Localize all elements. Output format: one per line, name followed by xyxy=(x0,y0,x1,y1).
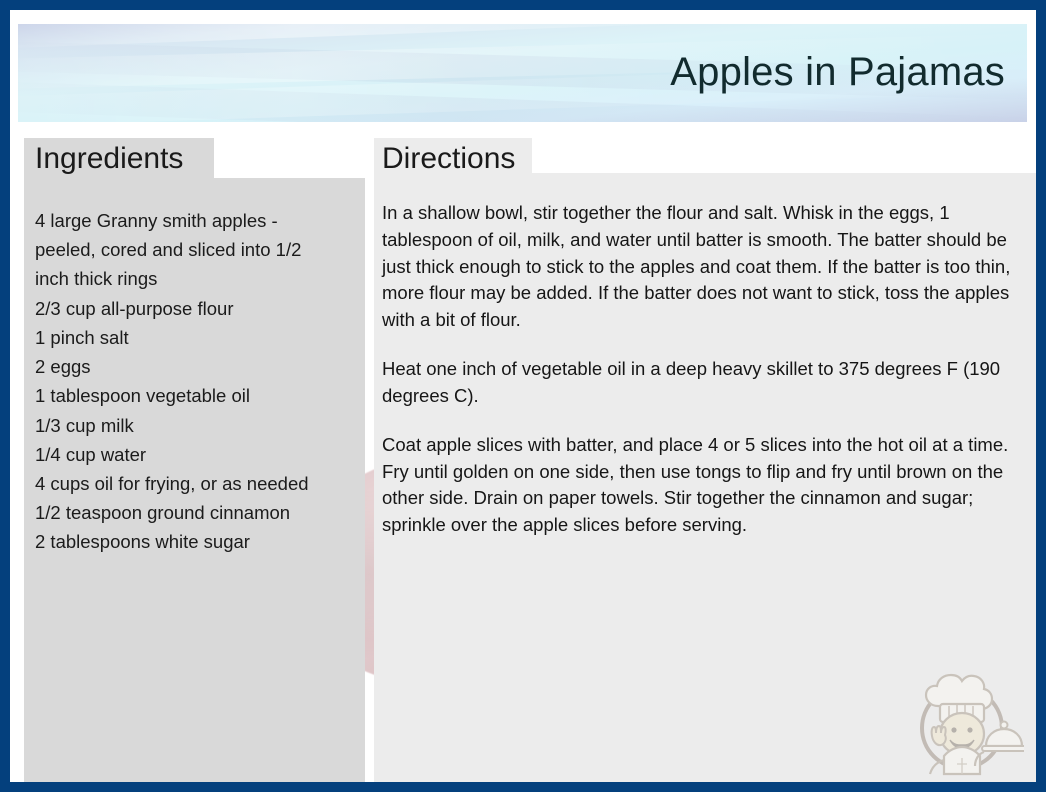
direction-paragraph: In a shallow bowl, stir together the flo… xyxy=(382,200,1025,334)
ingredients-panel: 4 large Granny smith apples - peeled, co… xyxy=(24,178,365,782)
directions-panel: In a shallow bowl, stir together the flo… xyxy=(374,173,1036,782)
list-item: peeled, cored and sliced into 1/2 xyxy=(35,235,355,264)
recipe-card: Apples in Pajamas Ingredients 4 xyxy=(0,0,1046,792)
list-item: 1/4 cup water xyxy=(35,440,355,469)
ingredients-list: 4 large Granny smith apples - peeled, co… xyxy=(35,206,355,557)
list-item: 1/2 teaspoon ground cinnamon xyxy=(35,498,355,527)
title-banner: Apples in Pajamas xyxy=(18,24,1027,122)
ingredients-heading: Ingredients xyxy=(35,144,183,180)
list-item: 4 cups oil for frying, or as needed xyxy=(35,469,355,498)
list-item: 1 pinch salt xyxy=(35,323,355,352)
direction-paragraph: Coat apple slices with batter, and place… xyxy=(382,432,1025,539)
list-item: 2 eggs xyxy=(35,352,355,381)
list-item: 2/3 cup all-purpose flour xyxy=(35,294,355,323)
list-item: 2 tablespoons white sugar xyxy=(35,527,355,556)
page-title: Apples in Pajamas xyxy=(670,52,1005,92)
card-inner-area: Apples in Pajamas Ingredients 4 xyxy=(10,10,1036,782)
ingredients-heading-band: Ingredients xyxy=(24,138,214,180)
direction-paragraph: Heat one inch of vegetable oil in a deep… xyxy=(382,356,1025,410)
directions-text: In a shallow bowl, stir together the flo… xyxy=(382,200,1025,539)
list-item: 4 large Granny smith apples - xyxy=(35,206,355,235)
list-item: 1/3 cup milk xyxy=(35,411,355,440)
list-item: 1 tablespoon vegetable oil xyxy=(35,381,355,410)
list-item: inch thick rings xyxy=(35,264,355,293)
